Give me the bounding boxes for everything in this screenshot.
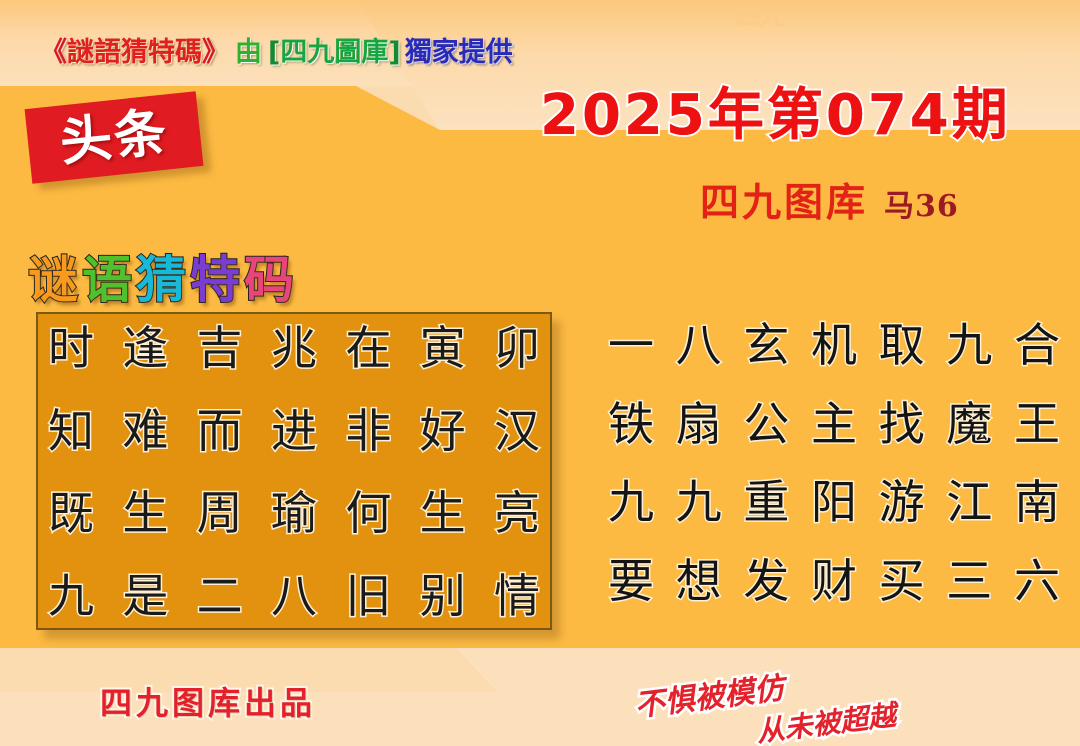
answer-char: 买 [879,558,925,604]
period-title-fill: 2025年第074期 [540,70,1011,151]
bracket-open: 《 [40,30,67,69]
answer-line: 九九重阳游江南 [608,479,1060,525]
answer-char: 魔 [946,401,992,447]
answer-char: 玄 [743,322,789,368]
source-exclusive-label: 獨家提供 [405,30,513,69]
riddle-char: 八 [271,572,317,620]
riddle-char: 亮 [494,489,540,537]
answer-line: 铁扇公主找魔王 [608,401,1060,447]
riddle-char: 别 [420,572,466,620]
zodiac-code: 马36 [884,189,959,224]
riddle-char: 生 [122,489,168,537]
subtitle-char-0: 谜 [28,240,82,312]
answer-char: 阳 [811,479,857,525]
answer-line: 一八玄机取九合 [608,322,1060,368]
answer-char: 财 [811,558,857,604]
answer-char: 游 [879,479,925,525]
poster-canvas: 四九 《謎語猜特碼》由[四九圖庫]獨家提供 头条 2025年第074期 2025… [0,0,1080,746]
subtitle-char-2: 猜 [136,240,190,312]
riddle-char: 吉 [197,324,243,372]
answer-char: 九 [608,479,654,525]
subtitle-char-1: 语 [82,240,136,312]
answer-char: 扇 [676,401,722,447]
riddle-subtitle: 谜语猜特码 [28,240,298,312]
riddle-char: 难 [122,407,168,455]
brand-row: 四九图库马36 [700,172,959,228]
answer-char: 主 [811,401,857,447]
square-bracket-open: [ [268,37,280,68]
answer-char: 八 [676,322,722,368]
riddle-line: 九是二八旧别情 [48,572,540,620]
brand-name: 四九图库 [700,180,868,226]
riddle-char: 在 [345,324,391,372]
answer-line: 要想发财买三六 [608,558,1060,604]
riddle-char: 非 [345,407,391,455]
riddle-char: 生 [420,489,466,537]
answer-char: 江 [946,479,992,525]
riddle-char: 周 [197,489,243,537]
answer-char: 要 [608,558,654,604]
answer-char: 南 [1014,479,1060,525]
riddle-box: 时逢吉兆在寅卯 知难而进非好汉 既生周瑜何生亮 九是二八旧别情 [36,312,552,630]
riddle-char: 二 [197,572,243,620]
riddle-char: 而 [197,407,243,455]
riddle-char: 兆 [271,324,317,372]
answer-char: 机 [811,322,857,368]
answer-char: 重 [743,479,789,525]
riddle-char: 进 [271,407,317,455]
source-library-name: 四九圖庫 [280,30,388,69]
riddle-char: 九 [48,572,94,620]
watermark-text: 四九 [735,0,783,33]
riddle-line: 既生周瑜何生亮 [48,489,540,537]
source-attribution-line: 《謎語猜特碼》由[四九圖庫]獨家提供 [40,30,513,69]
riddle-char: 瑜 [271,489,317,537]
answer-char: 找 [879,401,925,447]
bracket-close: 》 [202,30,229,69]
riddle-char: 汉 [494,407,540,455]
square-bracket-close: ] [388,37,400,68]
answer-lines: 一八玄机取九合 铁扇公主找魔王 九九重阳游江南 要想发财买三六 [608,322,1060,604]
riddle-char: 知 [48,407,94,455]
riddle-char: 逢 [122,324,168,372]
source-title: 謎語猜特碼 [67,30,202,69]
answer-char: 六 [1014,558,1060,604]
answer-char: 合 [1014,322,1060,368]
answer-char: 王 [1014,401,1060,447]
riddle-line: 知难而进非好汉 [48,407,540,455]
answer-char: 想 [676,558,722,604]
answer-char: 发 [743,558,789,604]
riddle-char: 何 [345,489,391,537]
riddle-char: 旧 [345,572,391,620]
answer-char: 铁 [608,401,654,447]
headline-badge-label: 头条 [58,106,171,169]
riddle-char: 卯 [494,324,540,372]
answer-char: 三 [946,558,992,604]
answer-char: 取 [879,322,925,368]
subtitle-char-3: 特 [190,240,244,312]
footer-credit: 四九图库出品 [100,678,316,724]
riddle-lines: 时逢吉兆在寅卯 知难而进非好汉 既生周瑜何生亮 九是二八旧别情 [38,320,550,626]
riddle-char: 时 [48,324,94,372]
answer-char: 公 [743,401,789,447]
riddle-char: 是 [122,572,168,620]
riddle-char: 情 [494,572,540,620]
answer-char: 九 [676,479,722,525]
subtitle-char-4: 码 [244,240,298,312]
source-by-word: 由 [235,30,262,69]
riddle-char: 好 [420,407,466,455]
answer-char: 九 [946,322,992,368]
riddle-line: 时逢吉兆在寅卯 [48,324,540,372]
answer-char: 一 [608,322,654,368]
riddle-char: 既 [48,489,94,537]
riddle-char: 寅 [420,324,466,372]
